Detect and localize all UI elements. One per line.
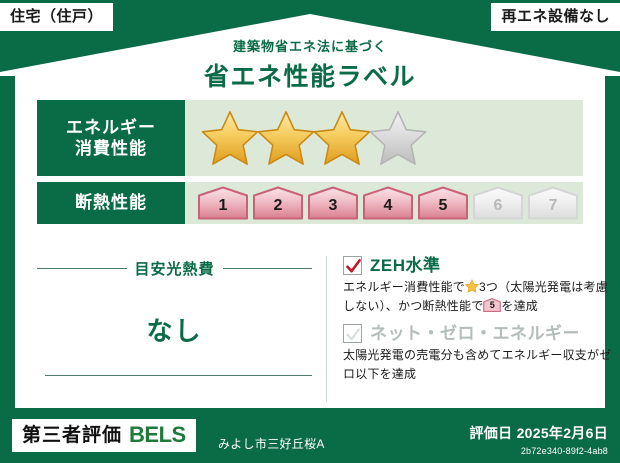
evaluation-id: 2b72e340-89f2-4ab8 <box>469 446 608 456</box>
grade-badges: 1234567 <box>197 186 579 220</box>
star-icon-filled <box>199 108 261 168</box>
row-energy-performance: エネルギー 消費性能 <box>37 100 583 176</box>
grade-badge-achieved: 1 <box>197 186 249 220</box>
grade-badge-achieved: 3 <box>307 186 359 220</box>
lower-section: 目安光熱費 なし ZEH水準 エネルギー消費性能で 3つ（太陽光発電は考慮しない… <box>37 256 613 402</box>
house-badge-icon <box>472 186 524 220</box>
zeh-standard-checkbox[interactable] <box>343 256 362 275</box>
net-zero-energy-description: 太陽光発電の売電分も含めてエネルギー収支がゼロ以下を達成 <box>343 346 613 383</box>
house-badge-icon <box>362 186 414 220</box>
grade-badge-achieved: 4 <box>362 186 414 220</box>
star-icon-filled <box>255 108 317 168</box>
bels-badge: 第三者評価 BELS <box>12 419 196 452</box>
evaluation-date-label: 評価日 <box>469 425 512 441</box>
grade-badge-achieved: 2 <box>252 186 304 220</box>
zeh-desc-part3: を達成 <box>501 299 538 313</box>
grade-badge-inactive: 7 <box>527 186 579 220</box>
utility-cost-value: なし <box>37 311 312 348</box>
zeh-standard-title: ZEH水準 <box>370 257 441 274</box>
page-title: 省エネ性能ラベル <box>0 57 620 93</box>
bels-label-en: BELS <box>129 424 186 446</box>
net-zero-energy-header: ネット・ゼロ・エネルギー <box>343 324 613 343</box>
row-energy-label-line1: エネルギー <box>66 117 156 138</box>
title-subtitle: 建築物省エネ法に基づく <box>0 36 620 55</box>
grade-icon-inline-number: 5 <box>483 301 501 310</box>
house-badge-icon <box>527 186 579 220</box>
evaluation-date-value: 2025年2月6日 <box>517 425 608 441</box>
star-icon-inline <box>465 279 479 293</box>
row-energy-label-line2: 消費性能 <box>75 138 147 159</box>
grade-badge-inactive: 6 <box>472 186 524 220</box>
net-zero-energy-checkbox[interactable] <box>343 324 362 343</box>
evaluation-info: 評価日 2025年2月6日 2b72e340-89f2-4ab8 <box>469 423 608 456</box>
property-name: みよし市三好丘桜A <box>218 435 325 452</box>
badge-building-type: 住宅（住戸） <box>0 3 113 31</box>
bels-label-jp: 第三者評価 <box>22 426 122 445</box>
zeh-section: ZEH水準 エネルギー消費性能で 3つ（太陽光発電は考慮しない）、かつ断熱性能で… <box>327 256 613 402</box>
grade-badge-achieved: 5 <box>417 186 469 220</box>
check-icon-empty <box>344 325 363 344</box>
row-insulation-label-line1: 断熱性能 <box>75 192 147 213</box>
row-energy-value <box>185 100 583 176</box>
footer: 第三者評価 BELS みよし市三好丘桜A 評価日 2025年2月6日 2b72e… <box>0 415 620 463</box>
utility-cost-underline <box>45 375 312 376</box>
zeh-standard-description: エネルギー消費性能で 3つ（太陽光発電は考慮しない）、かつ断熱性能で 5 を達成 <box>343 278 613 315</box>
house-badge-icon <box>252 186 304 220</box>
star-icon-filled <box>311 108 373 168</box>
row-insulation-value: 1234567 <box>185 182 583 224</box>
utility-cost-heading-text: 目安光熱費 <box>135 258 215 279</box>
rule-right <box>223 268 313 269</box>
zeh-desc-part1: エネルギー消費性能で <box>343 280 465 294</box>
check-icon <box>344 257 363 276</box>
label-title-block: 建築物省エネ法に基づく 省エネ性能ラベル <box>0 36 620 93</box>
rating-rows: エネルギー 消費性能 断熱性能 1234567 <box>37 100 583 230</box>
row-insulation-performance: 断熱性能 1234567 <box>37 182 583 224</box>
house-badge-icon <box>197 186 249 220</box>
star-rating <box>199 108 423 168</box>
grade-icon-inline: 5 <box>483 298 501 312</box>
evaluation-date: 評価日 2025年2月6日 <box>469 423 608 443</box>
row-energy-label: エネルギー 消費性能 <box>37 100 185 176</box>
label-body-panel: エネルギー 消費性能 断熱性能 1234567 目安光熱費 なし <box>15 70 605 408</box>
utility-cost-section: 目安光熱費 なし <box>37 256 327 402</box>
badge-renewable-equipment: 再エネ設備なし <box>491 3 620 31</box>
net-zero-energy-title: ネット・ゼロ・エネルギー <box>370 325 580 342</box>
utility-cost-heading: 目安光熱費 <box>37 258 312 279</box>
zeh-standard-header: ZEH水準 <box>343 256 613 275</box>
rule-left <box>37 268 127 269</box>
house-badge-icon <box>307 186 359 220</box>
row-insulation-label: 断熱性能 <box>37 182 185 224</box>
house-badge-icon <box>417 186 469 220</box>
star-icon-empty <box>367 108 429 168</box>
